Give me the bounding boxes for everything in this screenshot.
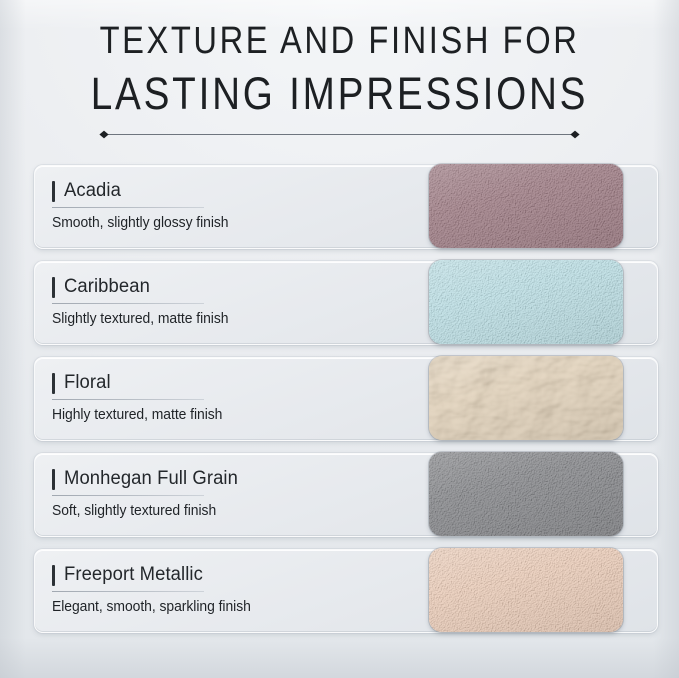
finish-name-underline bbox=[52, 591, 204, 592]
finish-description: Highly textured, matte finish bbox=[52, 407, 436, 423]
poster-root: TEXTURE AND FINISH FOR LASTING IMPRESSIO… bbox=[0, 0, 679, 678]
swatch-fill bbox=[429, 164, 623, 248]
finish-description: Smooth, slightly glossy finish bbox=[52, 215, 436, 231]
finish-card-text: FloralHighly textured, matte finish bbox=[52, 369, 452, 423]
finish-name: Freeport Metallic bbox=[64, 564, 203, 586]
finish-name-line: Acadia bbox=[52, 177, 452, 205]
finish-description: Slightly textured, matte finish bbox=[52, 311, 436, 327]
accent-bar-icon bbox=[52, 181, 55, 202]
accent-bar-icon bbox=[52, 565, 55, 586]
finish-row[interactable]: AcadiaSmooth, slightly glossy finish bbox=[0, 165, 679, 247]
page-title-line-2: LASTING IMPRESSIONS bbox=[48, 71, 632, 116]
finish-card-text: AcadiaSmooth, slightly glossy finish bbox=[52, 177, 452, 231]
finish-name-underline bbox=[52, 303, 204, 304]
caribbean-swatch[interactable] bbox=[429, 260, 623, 344]
swatch-fill bbox=[429, 452, 623, 536]
finish-card-text: CaribbeanSlightly textured, matte finish bbox=[52, 273, 452, 327]
finish-name: Monhegan Full Grain bbox=[64, 468, 238, 490]
finish-name-line: Caribbean bbox=[52, 273, 452, 301]
finish-name-line: Freeport Metallic bbox=[52, 561, 452, 589]
finish-card-text: Monhegan Full GrainSoft, slightly textur… bbox=[52, 465, 452, 519]
diamond-divider-icon bbox=[96, 130, 583, 139]
finish-name-line: Monhegan Full Grain bbox=[52, 465, 452, 493]
accent-bar-icon bbox=[52, 277, 55, 298]
finish-name-underline bbox=[52, 399, 204, 400]
page-title-line-1: TEXTURE AND FINISH FOR bbox=[48, 22, 632, 60]
finish-name: Caribbean bbox=[64, 276, 150, 298]
accent-bar-icon bbox=[52, 469, 55, 490]
finish-row[interactable]: Freeport MetallicElegant, smooth, sparkl… bbox=[0, 549, 679, 631]
monhegan-swatch[interactable] bbox=[429, 452, 623, 536]
finish-row[interactable]: Monhegan Full GrainSoft, slightly textur… bbox=[0, 453, 679, 535]
acadia-swatch[interactable] bbox=[429, 164, 623, 248]
finish-name: Floral bbox=[64, 372, 111, 394]
finish-description: Elegant, smooth, sparkling finish bbox=[52, 599, 436, 615]
finish-name-underline bbox=[52, 495, 204, 496]
finish-name-underline bbox=[52, 207, 204, 208]
header: TEXTURE AND FINISH FOR LASTING IMPRESSIO… bbox=[0, 22, 679, 116]
finish-description: Soft, slightly textured finish bbox=[52, 503, 436, 519]
swatch-fill bbox=[429, 260, 623, 344]
finish-row[interactable]: FloralHighly textured, matte finish bbox=[0, 357, 679, 439]
swatch-fill bbox=[429, 356, 623, 440]
floral-swatch[interactable] bbox=[429, 356, 623, 440]
finish-list: AcadiaSmooth, slightly glossy finishCari… bbox=[0, 165, 679, 645]
swatch-fill bbox=[429, 548, 623, 632]
finish-row[interactable]: CaribbeanSlightly textured, matte finish bbox=[0, 261, 679, 343]
finish-card-text: Freeport MetallicElegant, smooth, sparkl… bbox=[52, 561, 452, 615]
finish-name: Acadia bbox=[64, 180, 121, 202]
accent-bar-icon bbox=[52, 373, 55, 394]
finish-name-line: Floral bbox=[52, 369, 452, 397]
freeport-swatch[interactable] bbox=[429, 548, 623, 632]
